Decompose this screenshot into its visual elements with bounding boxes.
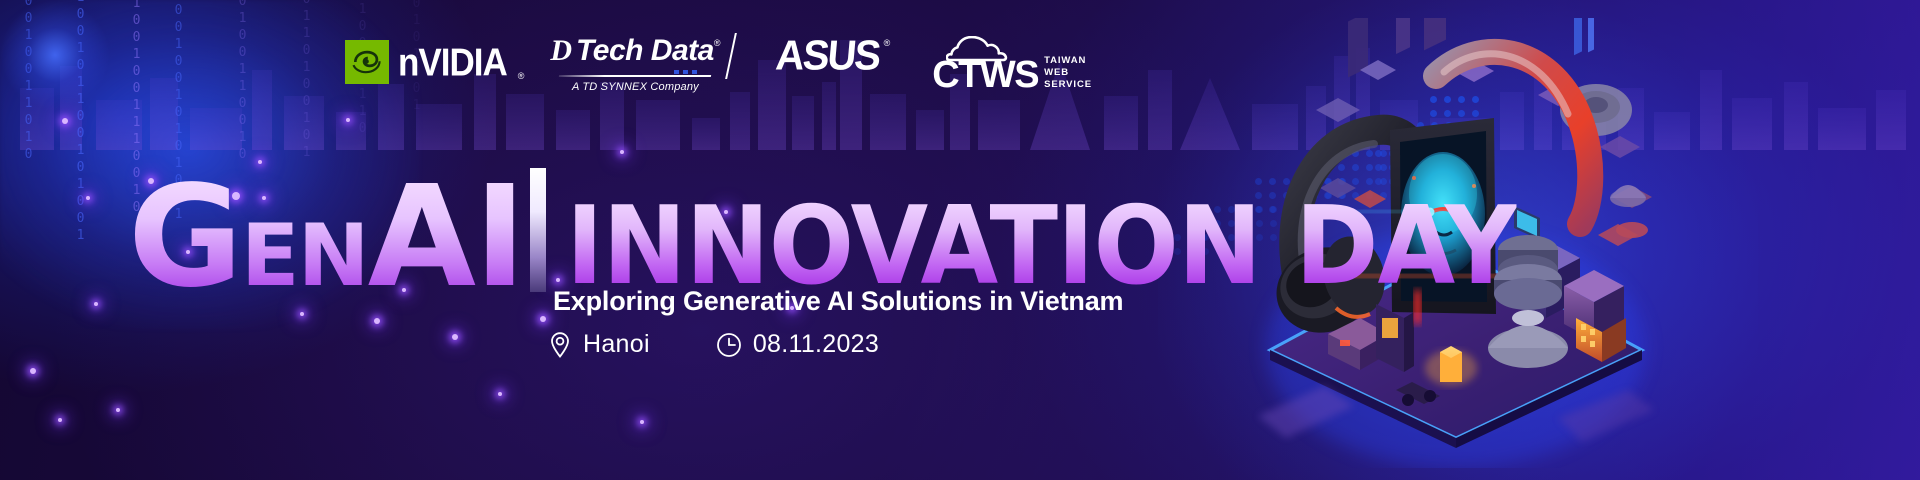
genai-wordmark: GENAI [128, 178, 524, 298]
event-subtitle: Exploring Generative AI Solutions in Vie… [553, 286, 1123, 317]
partner-logo-strip: nVIDIA ® D Tech Data ® A TD SYNNEX Compa… [345, 36, 1092, 100]
tech-data-wordmark: Tech Data [576, 36, 714, 66]
vertical-bar-divider-icon [530, 168, 546, 292]
tws-sub-line: SERVICE [1044, 80, 1092, 91]
blue-light-hotspot [0, 0, 110, 110]
logo-tech-data[interactable]: D Tech Data ® A TD SYNNEX Company [550, 36, 720, 100]
tech-data-slash-accent [726, 33, 738, 79]
page-title: GENAI INNOVATION DAY [128, 168, 1588, 298]
genai-g: G [128, 156, 241, 319]
genai-en: EN [241, 206, 368, 306]
date-label: 08.11.2023 [753, 330, 879, 359]
innovation-day-title: INNOVATION DAY [566, 201, 1517, 294]
binary-column: 0100110010 [236, 0, 249, 164]
sparkle-dot [540, 316, 546, 322]
logo-tws[interactable]: CTWS TAIWAN WEB SERVICE [932, 36, 1092, 94]
sparkle-dot [346, 118, 350, 122]
tws-block: CTWS TAIWAN WEB SERVICE [932, 56, 1092, 94]
event-date: 08.11.2023 [716, 330, 879, 359]
binary-column: 0010011010 [22, 0, 35, 164]
binary-column: 0110100101 [300, 0, 313, 162]
sparkle-dot [620, 150, 624, 154]
sparkle-dot [58, 418, 62, 422]
sparkle-dot [374, 318, 380, 324]
tws-subtitle-lines: TAIWAN WEB SERVICE [1044, 56, 1092, 91]
sparkle-dot [116, 408, 120, 412]
binary-column: 100101100101001 [74, 0, 87, 245]
event-meta: Hanoi 08.11.2023 [548, 330, 879, 359]
logo-asus[interactable]: ASUS ® [776, 36, 890, 88]
registered-mark: ® [884, 38, 891, 48]
sparkle-dot [62, 118, 68, 124]
registered-mark: ® [518, 71, 525, 81]
tech-data-row: D Tech Data ® [550, 36, 720, 66]
tech-data-underline-accent [559, 68, 711, 77]
sparkle-dot [86, 196, 90, 200]
sparkle-dot [640, 420, 644, 424]
sparkle-dot [30, 368, 36, 374]
sparkle-dot [498, 392, 502, 396]
tech-data-monogram: D [550, 36, 572, 66]
nvidia-eye-icon [345, 40, 389, 84]
location-pin-icon [548, 331, 572, 359]
clock-icon [716, 332, 742, 358]
logo-nvidia[interactable]: nVIDIA ® [345, 36, 524, 88]
sparkle-dot [452, 334, 458, 340]
asus-wordmark: ASUS [775, 35, 882, 77]
sparkle-dot [258, 160, 262, 164]
event-location: Hanoi [548, 330, 650, 359]
cloud-icon [946, 36, 1012, 62]
tech-data-tagline: A TD SYNNEX Company [572, 81, 699, 93]
location-label: Hanoi [583, 330, 650, 359]
genai-innovation-day-banner: 0010011010 100101100101001 1001001110010… [0, 0, 1920, 480]
registered-mark: ® [714, 38, 721, 48]
sparkle-dot [300, 312, 304, 316]
nvidia-wordmark: nVIDIA [398, 42, 507, 81]
sparkle-dot [94, 302, 98, 306]
tws-sub-line: TAIWAN [1044, 56, 1092, 67]
tws-sub-line: WEB [1044, 68, 1092, 79]
genai-ai: AI [368, 156, 524, 319]
